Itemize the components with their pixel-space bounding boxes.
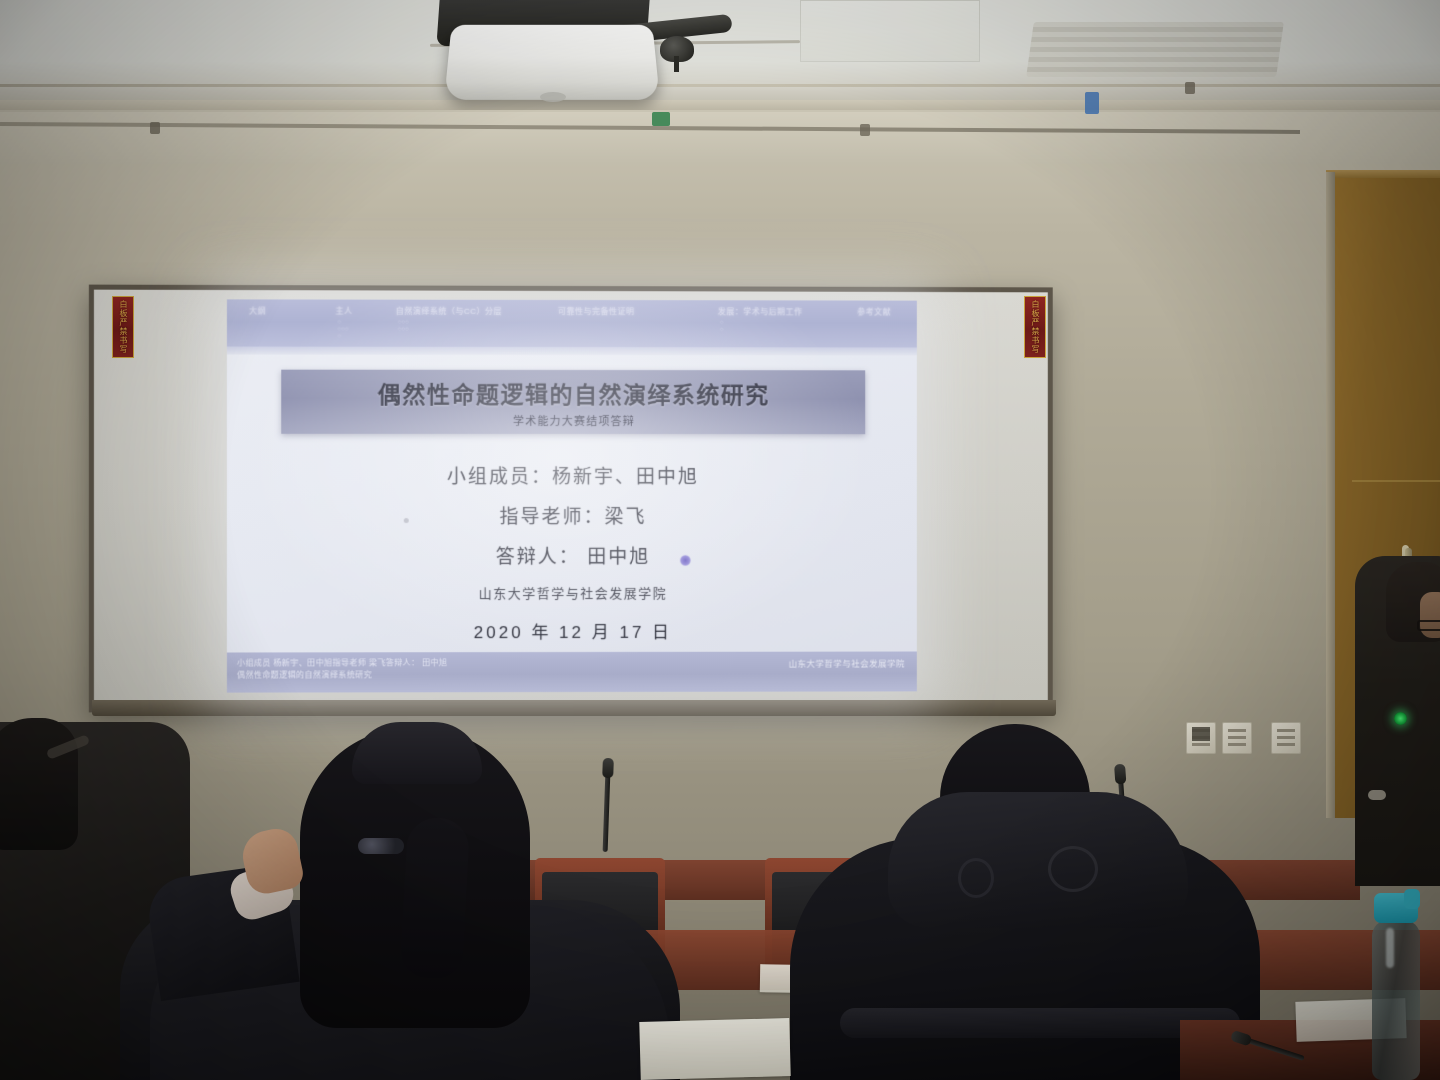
slide-speck [404, 518, 409, 523]
door-jamb [1326, 172, 1335, 818]
audience-left-head [0, 718, 78, 850]
nav-item-owner: 主人 [335, 306, 352, 317]
slide-footer-right: 山东大学哲学与社会发展学院 [789, 657, 905, 669]
wall-upper-band [0, 112, 1440, 164]
jacket-hood [888, 792, 1188, 928]
bottle-highlight [1386, 928, 1394, 968]
footer-line-1: 小组成员 杨新宇、田中旭指导老师 梁飞答辩人： 田中旭 [237, 657, 447, 669]
cable-clip [1185, 82, 1195, 94]
projector-lens-icon [540, 92, 566, 102]
laser-pointer-dot [680, 555, 691, 566]
banner-left-text: 白板严禁书写 [118, 300, 128, 354]
nav-item-soundness: 可靠性与完备性证明 [558, 306, 634, 317]
hood-cord [1048, 846, 1098, 892]
hood-cord [958, 858, 994, 898]
nav-sub-owner: ○○○○○ [338, 320, 349, 341]
door-panel-line [1352, 480, 1440, 482]
slide-nav-bar: 大纲 主人 ○○○○○ 自然演绎系统（与CC）分层 ○○○○○○ 可靠性与完备性… [227, 299, 917, 347]
ceiling-panel [800, 0, 980, 62]
nav-sub-system: ○○○○○○ [398, 320, 409, 334]
hair-tie [358, 838, 404, 854]
coat-button [1368, 790, 1386, 800]
slide-date: 2020 年 12 月 17 日 [227, 618, 917, 644]
projector-mount-knob [660, 36, 694, 62]
slide-school: 山东大学哲学与社会发展学院 [227, 583, 917, 603]
presenter-face [1420, 592, 1440, 638]
switch-plate[interactable] [1271, 722, 1301, 754]
no-writing-banner-right: 白板严禁书写 [1024, 296, 1046, 358]
ceiling-projector [444, 25, 660, 100]
nav-item-development: 发展：学术与后期工作 [718, 306, 803, 317]
slide-footer-left: 小组成员 杨新宇、田中旭指导老师 梁飞答辩人： 田中旭 偶然性命题逻辑的自然演绎… [237, 657, 447, 681]
paper-sheet [639, 1018, 790, 1080]
footer-line-2: 偶然性命题逻辑的自然演绎系统研究 [237, 669, 447, 681]
no-writing-banner-left: 白板严禁书写 [112, 296, 134, 358]
banner-right-text: 白板严禁书写 [1030, 300, 1040, 354]
network-jack-icon [1192, 727, 1210, 741]
green-badge-light [1394, 712, 1407, 725]
ponytail [400, 816, 470, 979]
slide-title-block: 偶然性命题逻辑的自然演绎系统研究 学术能力大赛结项答辩 [281, 370, 865, 435]
nav-item-system: 自然演绎系统（与CC）分层 [396, 306, 502, 317]
slide-advisor: 指导老师：梁飞 [227, 502, 917, 529]
slide-presenter: 答辩人： 田中旭 [227, 542, 917, 569]
switch-plate[interactable] [1222, 722, 1252, 754]
nav-sub-development: ○○ [720, 320, 724, 334]
slide-footer-bar: 小组成员 杨新宇、田中旭指导老师 梁飞答辩人： 田中旭 偶然性命题逻辑的自然演绎… [227, 652, 917, 693]
nav-item-outline: 大纲 [249, 305, 266, 316]
conference-room-photo: 白板严禁书写 白板严禁书写 大纲 主人 ○○○○○ 自然演绎系统（与CC）分层 … [0, 0, 1440, 1080]
blue-marker-tape [1085, 92, 1099, 114]
slide-title: 偶然性命题逻辑的自然演绎系统研究 [378, 375, 770, 409]
air-vent [1026, 22, 1284, 77]
green-marker-tape [652, 112, 670, 126]
slide-subtitle: 学术能力大赛结项答辩 [513, 412, 635, 428]
ceiling-seam [0, 84, 1440, 87]
bottle-clip [1404, 889, 1420, 909]
cable-clip [150, 122, 160, 134]
nav-item-references: 参考文献 [857, 307, 891, 318]
water-bottle[interactable] [1372, 920, 1420, 1080]
whiteboard-marker-tray [92, 700, 1056, 716]
projected-slide: 大纲 主人 ○○○○○ 自然演绎系统（与CC）分层 ○○○○○○ 可靠性与完备性… [227, 299, 917, 692]
glasses-icon [1417, 620, 1440, 631]
cable-clip [860, 124, 870, 136]
slide-members: 小组成员：杨新宇、田中旭 [227, 462, 917, 489]
slide-nav-underline [227, 347, 917, 356]
